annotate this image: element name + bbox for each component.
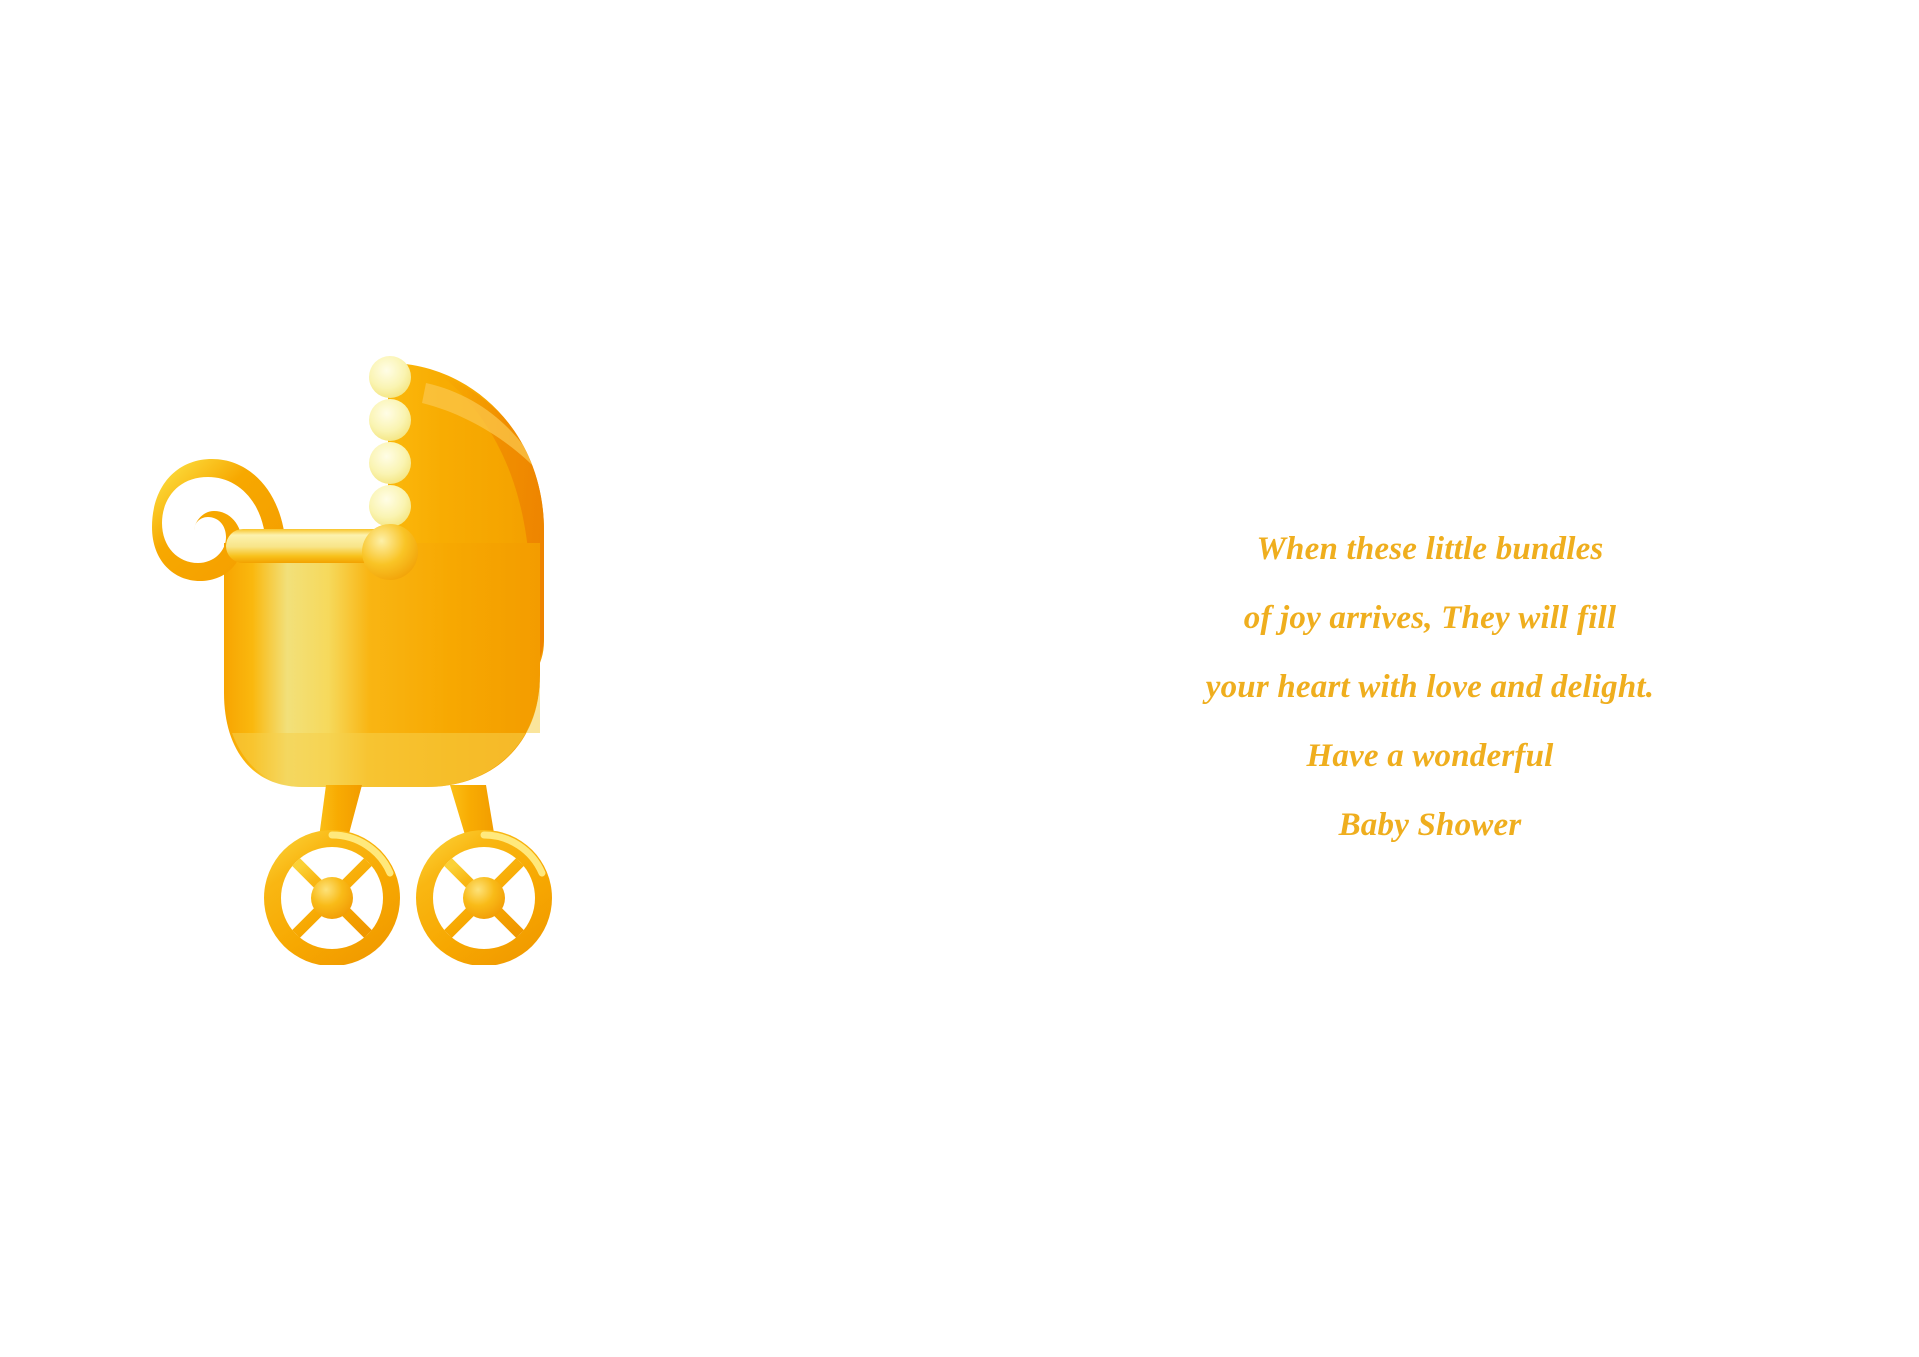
greeting-line-1: When these little bundles [1140, 515, 1720, 584]
greeting-text-block: When these little bundles of joy arrives… [1140, 515, 1720, 860]
wheel-left [264, 830, 400, 965]
card-canvas: When these little bundles of joy arrives… [0, 0, 1919, 1357]
greeting-line-2: of joy arrives, They will fill [1140, 584, 1720, 653]
hood-pivot-knob [362, 524, 418, 580]
baby-stroller-illustration [140, 345, 580, 965]
greeting-line-4: Have a wonderful [1140, 722, 1720, 791]
greeting-line-3: your heart with love and delight. [1140, 653, 1720, 722]
wheel-right [416, 830, 552, 965]
greeting-line-5: Baby Shower [1140, 791, 1720, 860]
